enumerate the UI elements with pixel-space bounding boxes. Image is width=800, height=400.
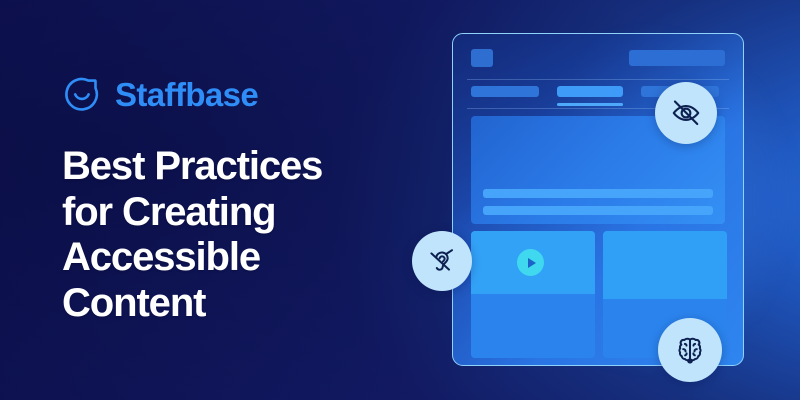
play-button-icon[interactable] — [517, 249, 544, 276]
top-bar-placeholder — [629, 50, 725, 66]
page-title: Best Practices for Creating Accessible C… — [62, 144, 442, 326]
banner-background: Staffbase Best Practices for Creating Ac… — [0, 0, 800, 400]
app-top-bar — [453, 34, 743, 78]
hero-text-line-1 — [483, 189, 713, 198]
video-tile[interactable] — [471, 231, 595, 358]
nav-tab-2[interactable] — [557, 86, 623, 97]
hearing-accessibility-badge — [412, 231, 472, 291]
visual-accessibility-badge — [655, 82, 717, 144]
app-window-card — [452, 33, 744, 366]
app-logo-placeholder — [471, 49, 493, 67]
headline-line-4: Content — [62, 281, 442, 327]
staffbase-smile-bubble-icon — [62, 74, 102, 114]
text-column: Staffbase Best Practices for Creating Ac… — [62, 72, 442, 326]
nav-tab-active-underline — [557, 103, 623, 106]
ear-off-icon — [426, 245, 458, 277]
hero-text-line-2 — [483, 206, 713, 215]
eye-off-icon — [669, 96, 703, 130]
nav-tab-1[interactable] — [471, 86, 539, 97]
headline-line-2: for Creating — [62, 190, 442, 236]
brand-lockup: Staffbase — [62, 72, 442, 116]
headline-line-1: Best Practices — [62, 144, 442, 190]
cognitive-accessibility-badge — [658, 318, 722, 382]
headline-line-3: Accessible — [62, 235, 442, 281]
divider-top — [467, 79, 729, 80]
accessible-content-app-mockup — [452, 33, 744, 366]
brain-icon — [673, 333, 707, 367]
article-thumbnail — [603, 231, 727, 299]
brand-wordmark: Staffbase — [115, 78, 258, 111]
video-tile-body — [471, 294, 595, 358]
